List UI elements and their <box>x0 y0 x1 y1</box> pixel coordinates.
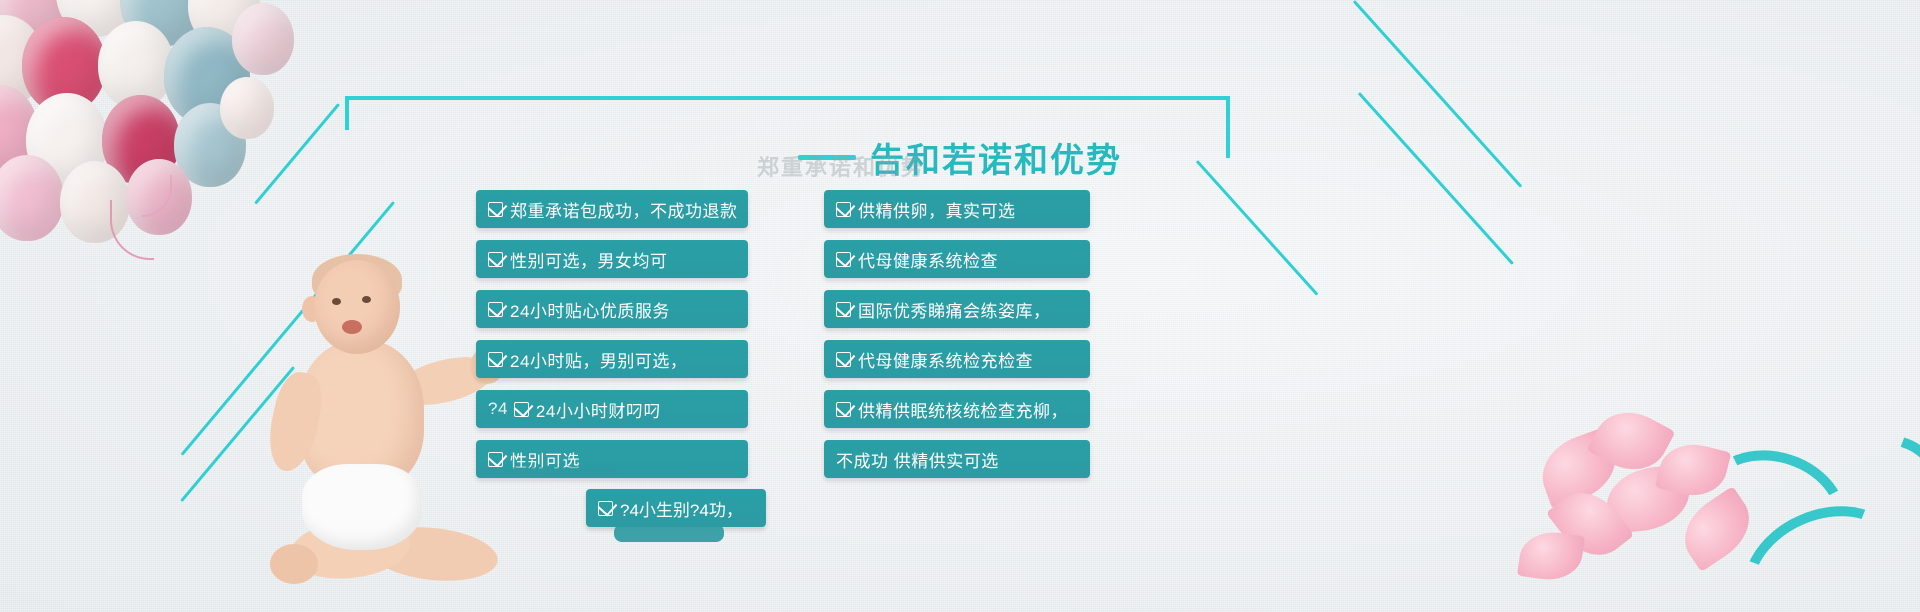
feature-pill-label: 代母健康系统检充检查 <box>858 347 1033 372</box>
baby-photo <box>258 252 508 612</box>
feature-pill[interactable]: 24小时贴，男别可选， <box>476 340 748 378</box>
pill-smudge-artifact-1 <box>614 524 724 542</box>
feature-pill[interactable]: ?4 24小小时财叼叼 <box>476 390 748 428</box>
checkbox-checked-icon <box>488 352 503 367</box>
banner-title: 告和若诺和优势 <box>0 133 1920 182</box>
feature-pill-ghost-prefix: ?4 <box>488 399 508 419</box>
feature-pill-label: ?4小生别?4功， <box>620 496 743 521</box>
checkbox-checked-icon <box>598 501 613 516</box>
feature-pill-label: 24小时贴心优质服务 <box>510 297 670 322</box>
feature-pill[interactable]: 性别可选，男女均可 <box>476 240 748 278</box>
title-rule-left <box>798 155 856 160</box>
checkbox-checked-icon <box>836 402 851 417</box>
checkbox-checked-icon <box>836 352 851 367</box>
checkbox-checked-icon <box>488 302 503 317</box>
checkbox-checked-icon <box>488 452 503 467</box>
feature-pill[interactable]: 24小时贴心优质服务 <box>476 290 748 328</box>
feature-pill[interactable]: 郑重承诺包成功，不成功退款 <box>476 190 748 228</box>
feature-pill-label: 24小小时财叼叼 <box>536 397 661 422</box>
feature-pill[interactable]: 供精供眠统核统检查充柳， <box>824 390 1090 428</box>
pill-smudge-artifact-2 <box>480 467 620 477</box>
frame-top-line <box>345 96 1230 100</box>
promo-banner: 告和若诺和优势 郑重承诺和优势 郑重承诺包成功，不成功退款 供精供卵，真实可选 … <box>0 0 1920 612</box>
banner-title-text: 告和若诺和优势 <box>870 133 1122 182</box>
feature-pill[interactable]: 代母健康系统检充检查 <box>824 340 1090 378</box>
checkbox-checked-icon <box>514 402 529 417</box>
feature-pill-label: 供精供卵，真实可选 <box>858 197 1016 222</box>
checkbox-checked-icon <box>488 202 503 217</box>
checkbox-checked-icon <box>488 252 503 267</box>
flower-decoration-image <box>1510 392 1920 612</box>
feature-pill-label: 国际优秀睇痛会练姿库， <box>858 297 1051 322</box>
feature-pill-label: 不成功 供精供实可选 <box>836 447 999 472</box>
feature-pill-grid: 郑重承诺包成功，不成功退款 供精供卵，真实可选 性别可选，男女均可 代母健康系统… <box>476 190 1096 478</box>
checkbox-checked-icon <box>836 252 851 267</box>
feature-pill-label: 性别可选，男女均可 <box>510 247 668 272</box>
feature-pill-label: 供精供眠统核统检查充柳， <box>858 397 1068 422</box>
feature-pill-overlap-artifact[interactable]: ?4小生别?4功， <box>586 489 766 527</box>
feature-pill-label: 郑重承诺包成功，不成功退款 <box>510 197 738 222</box>
feature-pill[interactable]: 国际优秀睇痛会练姿库， <box>824 290 1090 328</box>
checkbox-checked-icon <box>836 302 851 317</box>
checkbox-checked-icon <box>836 202 851 217</box>
feature-pill[interactable]: 供精供卵，真实可选 <box>824 190 1090 228</box>
feature-pill[interactable]: 代母健康系统检查 <box>824 240 1090 278</box>
feature-pill-label: 24小时贴，男别可选， <box>510 347 687 372</box>
feature-pill-label: 代母健康系统检查 <box>858 247 998 272</box>
feature-pill[interactable]: 不成功 供精供实可选 <box>824 440 1090 478</box>
